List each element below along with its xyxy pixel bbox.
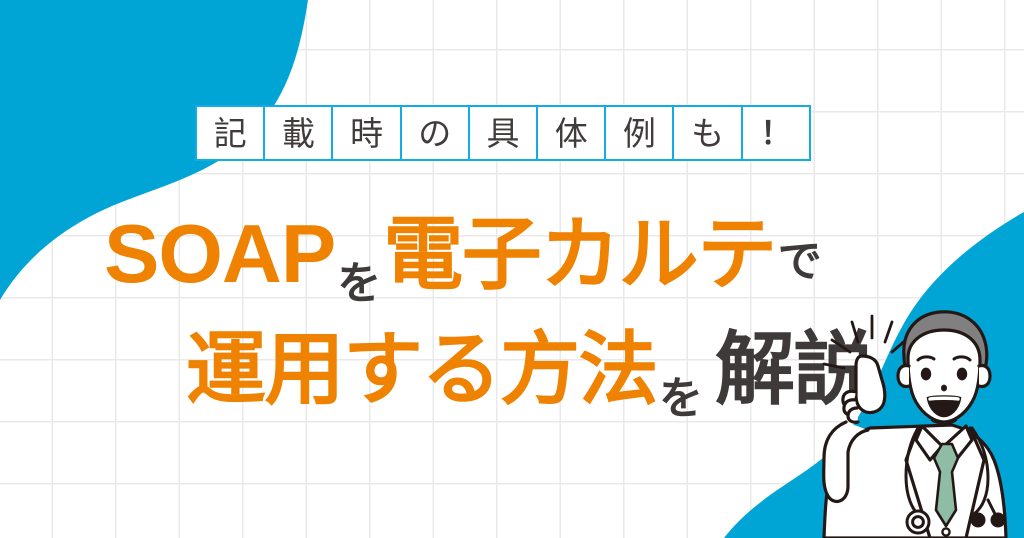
mouth-teeth	[930, 398, 958, 399]
subtitle-box: ！	[741, 105, 811, 161]
headline-segment-de: で	[776, 240, 824, 284]
ear-right	[979, 365, 990, 386]
headline-segment-wo-1: を	[335, 262, 383, 306]
subtitle-box: 記	[195, 105, 265, 161]
eye-right	[957, 368, 967, 381]
subtitle-box: 具	[468, 105, 538, 161]
boxed-subtitle: 記 載 時 の 具 体 例 も ！	[195, 105, 811, 161]
headline-segment-unyou-suru-houhou: 運用する方法	[186, 330, 657, 410]
headline-segment-wo-2: を	[657, 377, 705, 421]
nose	[941, 385, 947, 392]
subtitle-box: も	[672, 105, 742, 161]
headline-line-1: SOAPを電子カルテで	[104, 212, 824, 295]
banner-root: 記 載 時 の 具 体 例 も ！ SOAPを電子カルテで 運用する方法を解説	[0, 0, 1024, 538]
eye-left	[921, 368, 931, 381]
headline-segment-denshi-karute: 電子カルテ	[383, 215, 776, 295]
coat-button	[942, 528, 949, 535]
pointing-hand	[843, 356, 885, 422]
subtitle-box: 時	[331, 105, 401, 161]
headline-line-2: 運用する方法を解説	[186, 330, 872, 410]
necktie	[934, 444, 958, 526]
subtitle-box: の	[400, 105, 470, 161]
headline-segment-soap: SOAP	[104, 212, 335, 295]
subtitle-box: 載	[263, 105, 333, 161]
subtitle-box: 体	[536, 105, 606, 161]
ear-left	[898, 365, 909, 386]
doctor-illustration	[806, 300, 1024, 538]
subtitle-box: 例	[604, 105, 674, 161]
